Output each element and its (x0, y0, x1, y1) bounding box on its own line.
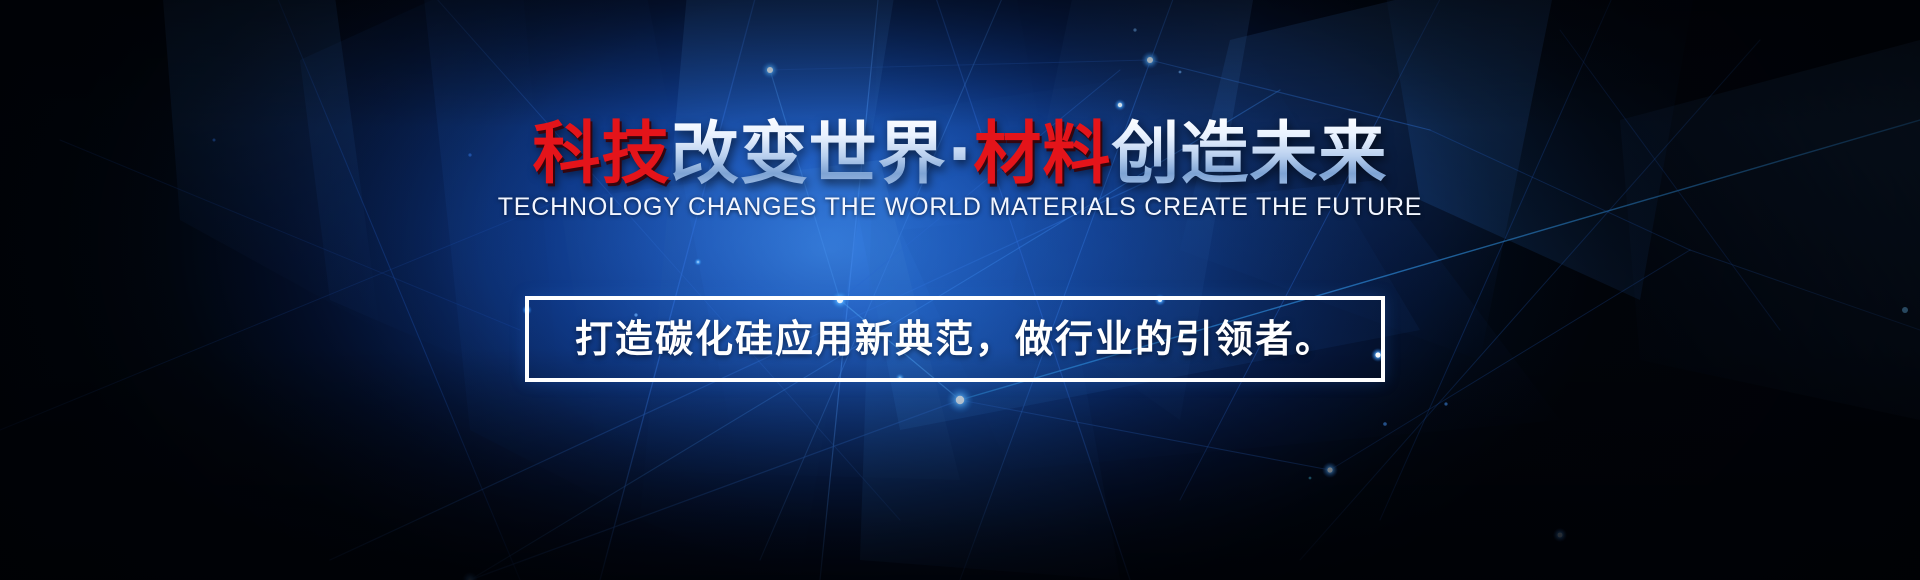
banner-subheadline: TECHNOLOGY CHANGES THE WORLD MATERIALS C… (0, 192, 1920, 222)
slogan-box: 打造碳化硅应用新典范，做行业的引领者。 (525, 296, 1385, 382)
headline-segment-1: 科技 (533, 115, 671, 194)
hero-banner: 科技改变世界·材料创造未来 TECHNOLOGY CHANGES THE WOR… (0, 0, 1920, 580)
banner-content: 科技改变世界·材料创造未来 TECHNOLOGY CHANGES THE WOR… (0, 0, 1920, 580)
banner-headline: 科技改变世界·材料创造未来 (0, 118, 1920, 192)
headline-segment-4: 创造未来 (1111, 115, 1387, 194)
slogan-text: 打造碳化硅应用新典范，做行业的引领者。 (575, 317, 1335, 361)
headline-segment-2: 改变世界· (671, 115, 974, 194)
headline-segment-3: 材料 (973, 115, 1111, 194)
